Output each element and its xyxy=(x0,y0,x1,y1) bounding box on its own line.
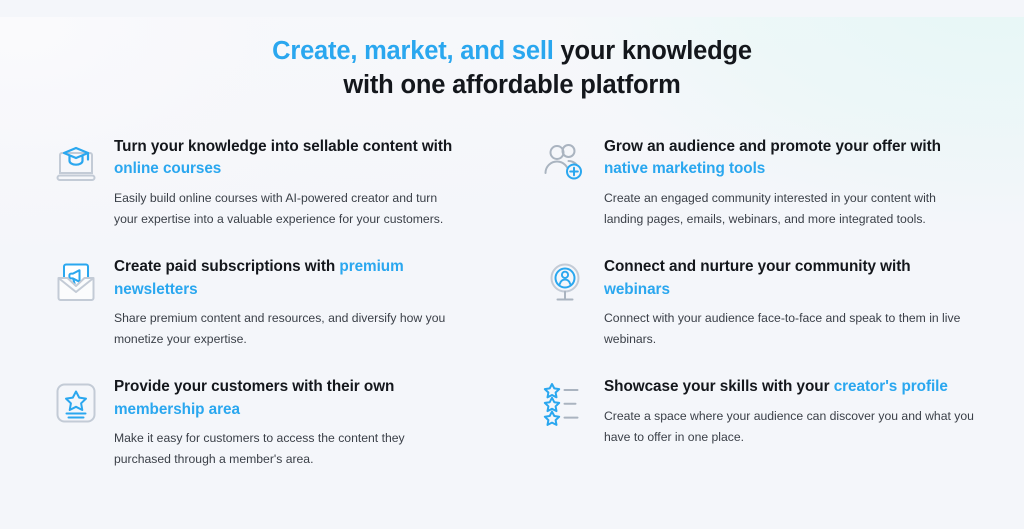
headline-line-2: with one affordable platform xyxy=(0,69,1024,103)
feature-title-accent[interactable]: creator's profile xyxy=(834,378,948,395)
feature-title-plain: Provide your customers with their own xyxy=(114,378,394,395)
feature-title: Connect and nurture your community with … xyxy=(604,256,976,301)
feature-title: Create paid subscriptions with premium n… xyxy=(114,256,478,301)
feature-body: Turn your knowledge into sellable conten… xyxy=(114,135,478,230)
feature-title: Grow an audience and promote your offer … xyxy=(604,136,976,181)
feature-title-plain: Connect and nurture your community with xyxy=(604,258,911,275)
features-column-left: Turn your knowledge into sellable conten… xyxy=(48,135,478,495)
feature-description: Connect with your audience face-to-face … xyxy=(604,308,976,350)
page-headline: Create, market, and sell your knowledge … xyxy=(0,17,1024,103)
feature-webinars: Connect and nurture your community with … xyxy=(536,255,976,350)
envelope-megaphone-icon xyxy=(48,255,104,312)
feature-body: Connect and nurture your community with … xyxy=(604,255,976,350)
feature-title-accent[interactable]: webinars xyxy=(604,281,670,298)
features-column-right: Grow an audience and promote your offer … xyxy=(536,135,976,495)
feature-title-plain: Create paid subscriptions with xyxy=(114,258,339,275)
feature-title-accent[interactable]: online courses xyxy=(114,160,221,177)
feature-description: Easily build online courses with AI-powe… xyxy=(114,188,464,230)
features-grid: Turn your knowledge into sellable conten… xyxy=(0,135,1024,495)
star-card-icon xyxy=(48,375,104,432)
feature-title-plain: Turn your knowledge into sellable conten… xyxy=(114,138,452,155)
feature-description: Create an engaged community interested i… xyxy=(604,188,976,230)
feature-online-courses: Turn your knowledge into sellable conten… xyxy=(48,135,478,230)
feature-title-plain: Grow an audience and promote your offer … xyxy=(604,138,941,155)
feature-membership-area: Provide your customers with their own me… xyxy=(48,375,478,470)
feature-description: Share premium content and resources, and… xyxy=(114,308,464,350)
feature-body: Create paid subscriptions with premium n… xyxy=(114,255,478,350)
feature-title-accent[interactable]: native marketing tools xyxy=(604,160,765,177)
star-list-icon xyxy=(536,375,594,432)
feature-title: Showcase your skills with your creator's… xyxy=(604,376,976,398)
feature-title: Provide your customers with their own me… xyxy=(114,376,478,421)
feature-premium-newsletters: Create paid subscriptions with premium n… xyxy=(48,255,478,350)
feature-title-accent[interactable]: membership area xyxy=(114,401,240,418)
feature-body: Showcase your skills with your creator's… xyxy=(604,375,976,448)
headline-line-1: Create, market, and sell your knowledge xyxy=(0,35,1024,69)
feature-title-plain: Showcase your skills with your xyxy=(604,378,834,395)
feature-creators-profile: Showcase your skills with your creator's… xyxy=(536,375,976,448)
laptop-graduation-cap-icon xyxy=(48,135,104,192)
feature-description: Create a space where your audience can d… xyxy=(604,406,976,448)
headline-rest: your knowledge xyxy=(554,37,752,65)
feature-showcase-page: Create, market, and sell your knowledge … xyxy=(0,17,1024,529)
feature-description: Make it easy for customers to access the… xyxy=(114,428,464,470)
headline-accent: Create, market, and sell xyxy=(272,37,554,65)
feature-body: Provide your customers with their own me… xyxy=(114,375,478,470)
feature-native-marketing-tools: Grow an audience and promote your offer … xyxy=(536,135,976,230)
people-add-icon xyxy=(536,135,594,192)
person-broadcast-icon xyxy=(536,255,594,312)
feature-body: Grow an audience and promote your offer … xyxy=(604,135,976,230)
feature-title: Turn your knowledge into sellable conten… xyxy=(114,136,478,181)
